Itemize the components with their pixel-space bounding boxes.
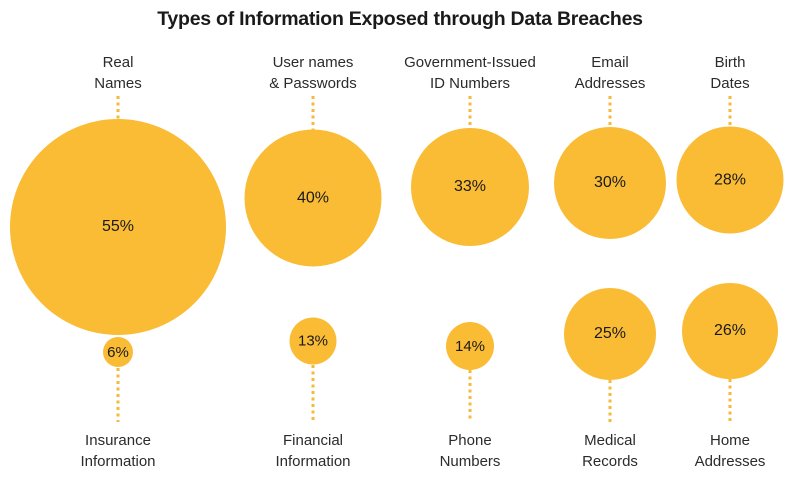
category-label-line-2: Addresses xyxy=(575,73,646,94)
category-label-line-1: Medical xyxy=(582,430,638,451)
bubble-value-label: 26% xyxy=(714,323,746,339)
top-category-label-1: User names& Passwords xyxy=(269,52,357,94)
chart-title: Types of Information Exposed through Dat… xyxy=(0,6,800,32)
category-label-line-1: Email xyxy=(575,52,646,73)
bubble-value-label: 6% xyxy=(107,345,129,360)
category-label-line-1: Home xyxy=(695,430,766,451)
bubble-value-label: 33% xyxy=(454,179,486,195)
category-label-line-2: Numbers xyxy=(440,451,501,472)
bubble-value-label: 14% xyxy=(455,339,485,354)
bubble-bottom-1[interactable]: 13% xyxy=(290,318,337,365)
dotted-connector-line xyxy=(609,380,612,422)
bubble-value-label: 25% xyxy=(594,326,626,342)
dotted-connector-line xyxy=(469,96,472,128)
bubble-bottom-0[interactable]: 6% xyxy=(103,337,133,367)
category-label-line-2: Addresses xyxy=(695,451,766,472)
bubble-chart-infographic: Types of Information Exposed through Dat… xyxy=(0,0,800,482)
bubble-value-label: 28% xyxy=(714,172,746,188)
category-label-line-1: User names xyxy=(269,52,357,73)
bubble-top-3[interactable]: 30% xyxy=(554,127,666,239)
dotted-connector-line xyxy=(117,96,120,120)
bottom-category-label-2: PhoneNumbers xyxy=(440,430,501,472)
category-label-line-1: Real xyxy=(94,52,142,73)
bottom-category-label-1: FinancialInformation xyxy=(275,430,350,472)
bubble-value-label: 55% xyxy=(102,219,134,235)
category-label-line-1: Insurance xyxy=(80,430,155,451)
bubble-top-2[interactable]: 33% xyxy=(411,128,529,246)
bottom-category-label-3: MedicalRecords xyxy=(582,430,638,472)
bubble-top-0[interactable]: 55% xyxy=(10,119,226,335)
dotted-connector-line xyxy=(729,379,732,422)
category-label-line-2: Records xyxy=(582,451,638,472)
dotted-connector-line xyxy=(609,96,612,127)
bubble-top-1[interactable]: 40% xyxy=(245,130,382,267)
bubble-bottom-2[interactable]: 14% xyxy=(446,322,494,370)
bubble-value-label: 40% xyxy=(297,190,329,206)
category-label-line-1: Birth xyxy=(710,52,749,73)
bottom-category-label-4: HomeAddresses xyxy=(695,430,766,472)
bubble-bottom-4[interactable]: 26% xyxy=(682,283,778,379)
top-category-label-3: EmailAddresses xyxy=(575,52,646,94)
category-label-line-1: Government-Issued xyxy=(404,52,536,73)
category-label-line-2: Information xyxy=(275,451,350,472)
category-label-line-2: ID Numbers xyxy=(404,73,536,94)
dotted-connector-line xyxy=(312,96,315,130)
category-label-line-1: Phone xyxy=(440,430,501,451)
top-category-label-2: Government-IssuedID Numbers xyxy=(404,52,536,94)
category-label-line-2: Dates xyxy=(710,73,749,94)
dotted-connector-line xyxy=(117,368,120,422)
dotted-connector-line xyxy=(729,96,732,126)
bubble-bottom-3[interactable]: 25% xyxy=(564,288,656,380)
bubble-value-label: 13% xyxy=(298,334,328,349)
category-label-line-2: & Passwords xyxy=(269,73,357,94)
category-label-line-2: Names xyxy=(94,73,142,94)
bubble-top-4[interactable]: 28% xyxy=(677,127,784,234)
dotted-connector-line xyxy=(312,365,315,422)
dotted-connector-line xyxy=(469,370,472,422)
bottom-category-label-0: InsuranceInformation xyxy=(80,430,155,472)
top-category-label-4: BirthDates xyxy=(710,52,749,94)
bubble-value-label: 30% xyxy=(594,175,626,191)
category-label-line-1: Financial xyxy=(275,430,350,451)
category-label-line-2: Information xyxy=(80,451,155,472)
top-category-label-0: RealNames xyxy=(94,52,142,94)
